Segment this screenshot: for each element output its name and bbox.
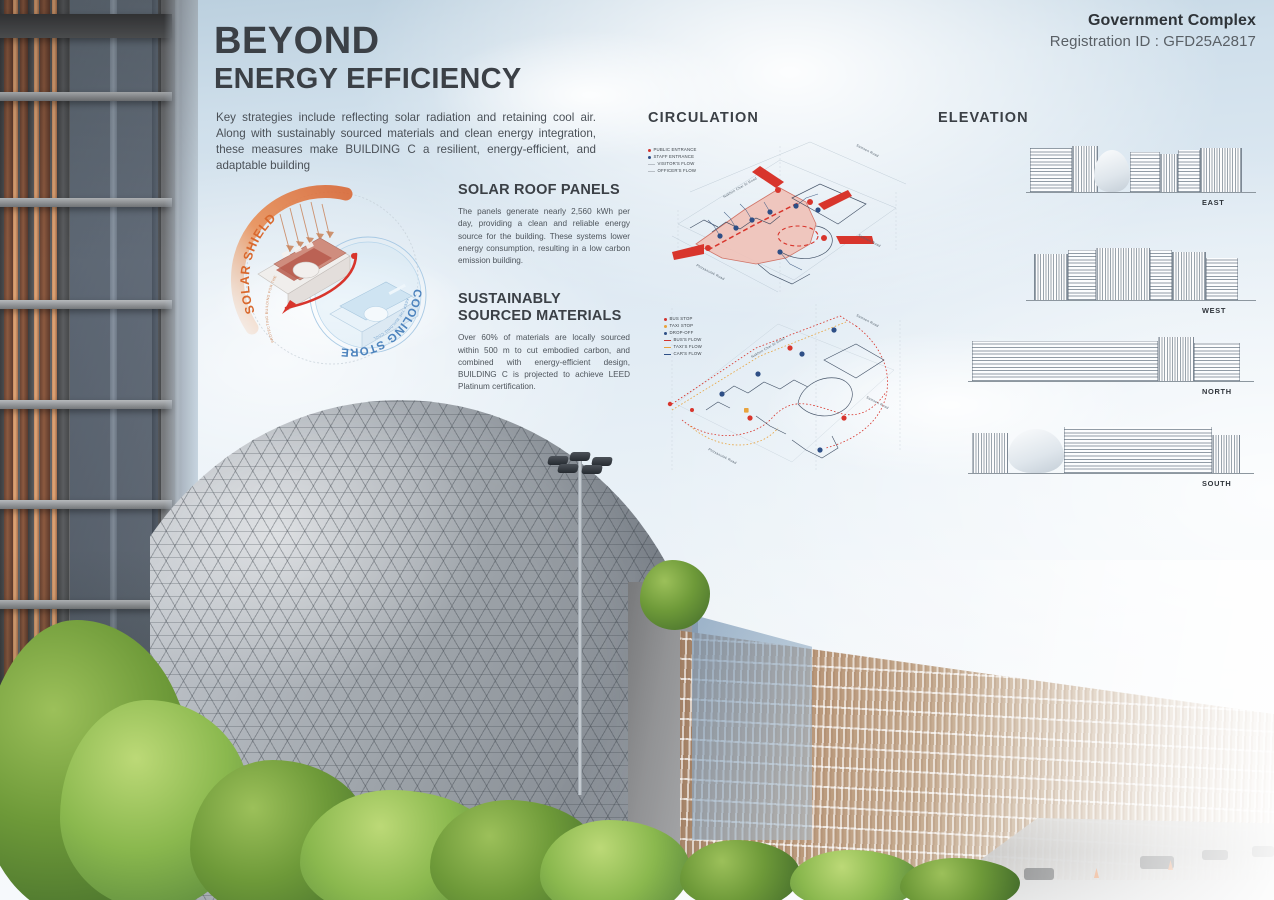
legend-item: DROP-OFF: [664, 330, 702, 337]
svg-text:Phitsanulok Road: Phitsanulok Road: [696, 263, 726, 281]
svg-text:Nakhon Chai Si Road: Nakhon Chai Si Road: [723, 176, 758, 199]
street-light-pole: [578, 455, 582, 795]
legend-line-icon: [664, 354, 671, 355]
circulation-heading: CIRCULATION: [648, 110, 759, 126]
project-title: Government Complex: [1050, 12, 1256, 30]
registration-id: Registration ID : GFD25A2817: [1050, 33, 1256, 50]
legend-label: TAXI'S FLOW: [674, 344, 703, 351]
board-header: Government Complex Registration ID : GFD…: [1050, 12, 1256, 50]
legend-line-icon: [664, 340, 671, 341]
legend-label: CAR'S FLOW: [674, 351, 702, 358]
legend-item: TAXI STOP: [664, 323, 702, 330]
circulation-diagram-entrances: Samsen Road Samsen Road Phitsanulok Road…: [660, 132, 910, 297]
legend-item: BUS STOP: [664, 316, 702, 323]
svg-text:Samsen Road: Samsen Road: [856, 143, 880, 158]
legend-item: VISITOR'S FLOW: [648, 161, 697, 168]
svg-text:Nakhon Chai Si Road: Nakhon Chai Si Road: [751, 336, 786, 359]
circulation-legend-2: BUS STOP TAXI STOP DROP-OFF BUS'S FLOW T…: [664, 316, 702, 358]
hero-title: BEYOND ENERGY EFFICIENCY: [214, 22, 522, 95]
legend-label: PUBLIC ENTRANCE: [654, 147, 697, 154]
section-body: Over 60% of materials are locally source…: [458, 332, 630, 393]
legend-dot-icon: [664, 325, 667, 328]
legend-line-icon: [648, 164, 655, 165]
circulation-legend-1: PUBLIC ENTRANCE STAFF ENTRANCE VISITOR'S…: [648, 147, 697, 175]
legend-item: PUBLIC ENTRANCE: [648, 147, 697, 154]
cooling-store-arc-label: COOLING STORE: [340, 288, 423, 358]
elevation-label: NORTH: [1202, 387, 1232, 396]
svg-text:Samsen Road: Samsen Road: [856, 313, 880, 328]
presentation-board: Government Complex Registration ID : GFD…: [0, 0, 1274, 900]
elevation-east: EAST: [1030, 140, 1260, 212]
elevation-label: EAST: [1202, 198, 1225, 207]
legend-label: BUS'S FLOW: [674, 337, 702, 344]
elevation-drawing: [972, 425, 1240, 473]
legend-dot-icon: [664, 318, 667, 321]
legend-item: BUS'S FLOW: [664, 337, 702, 344]
hero-title-line1: BEYOND: [214, 22, 522, 61]
legend-line-icon: [664, 347, 671, 348]
legend-dot-icon: [648, 156, 651, 159]
elevation-label: WEST: [1202, 306, 1226, 315]
legend-item: CAR'S FLOW: [664, 351, 702, 358]
section-heading-line2: SOURCED MATERIALS: [458, 308, 630, 325]
legend-item: TAXI'S FLOW: [664, 344, 702, 351]
svg-text:Phitsanulok Road: Phitsanulok Road: [708, 447, 738, 465]
elevation-south: SOUTH: [972, 425, 1262, 491]
legend-label: VISITOR'S FLOW: [658, 161, 695, 168]
hero-title-line2: ENERGY EFFICIENCY: [214, 63, 522, 95]
hero-lede: Key strategies include reflecting solar …: [216, 110, 596, 174]
street-light-head: [548, 452, 612, 474]
elevation-drawing: [972, 335, 1240, 381]
legend-dot-icon: [648, 149, 651, 152]
legend-label: STAFF ENTRANCE: [654, 154, 695, 161]
svg-text:Samsen Road: Samsen Road: [866, 395, 890, 410]
tree: [640, 560, 710, 630]
section-body: The panels generate nearly 2,560 kWh per…: [458, 206, 630, 267]
legend-item: STAFF ENTRANCE: [648, 154, 697, 161]
elevation-drawing: [1030, 140, 1242, 192]
solar-shield-arc-label: SOLAR SHIELD: [238, 211, 279, 316]
elevation-north: NORTH: [972, 335, 1262, 401]
elevation-west: WEST: [1030, 248, 1260, 320]
solar-shield-diagram: SOLAR SHIELD PROTECTING BUILDING FOR THE…: [228, 178, 446, 373]
legend-item: OFFICER'S FLOW: [648, 168, 697, 175]
legend-label: DROP-OFF: [670, 330, 694, 337]
legend-line-icon: [648, 171, 655, 172]
section-solar-roof-panels: SOLAR ROOF PANELS The panels generate ne…: [458, 182, 630, 268]
elevation-label: SOUTH: [1202, 479, 1231, 488]
section-heading-line1: SUSTAINABLY: [458, 291, 630, 308]
legend-label: BUS STOP: [670, 316, 693, 323]
circulation-diagram-transit: Samsen Road Samsen Road Phitsanulok Road…: [660, 300, 910, 475]
legend-label: OFFICER'S FLOW: [658, 168, 697, 175]
elevation-drawing: [1030, 248, 1242, 300]
legend-label: TAXI STOP: [670, 323, 694, 330]
legend-dot-icon: [664, 332, 667, 335]
shield-arc-labels: SOLAR SHIELD PROTECTING BUILDING FOR THE…: [228, 178, 446, 373]
section-sustainably-sourced-materials: SUSTAINABLY SOURCED MATERIALS Over 60% o…: [458, 291, 630, 394]
section-heading: SOLAR ROOF PANELS: [458, 182, 630, 199]
elevation-heading: ELEVATION: [938, 110, 1029, 126]
circulation-axonometric-1: Samsen Road Samsen Road Phitsanulok Road…: [660, 132, 910, 297]
